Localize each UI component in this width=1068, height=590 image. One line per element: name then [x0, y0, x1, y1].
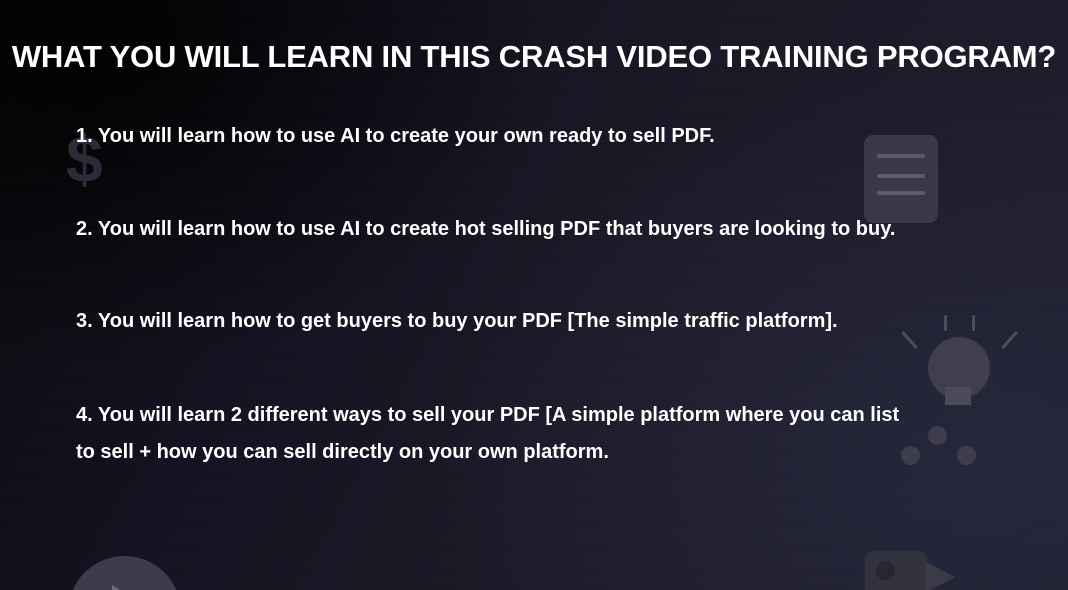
list-item: 1. You will learn how to use AI to creat…: [76, 118, 906, 155]
camera-body: [865, 551, 927, 590]
page-title: WHAT YOU WILL LEARN IN THIS CRASH VIDEO …: [0, 39, 1068, 75]
lightbulb-base: [945, 387, 971, 405]
presentation-slide: $ WHAT YOU WILL LEARN IN THIS CRASH VIDE…: [0, 0, 1068, 590]
camera-lens: [925, 561, 955, 590]
list-item: 2. You will learn how to use AI to creat…: [76, 211, 906, 248]
dot-icon: [957, 446, 976, 465]
video-camera-icon: [865, 551, 955, 590]
learning-points-list: 1. You will learn how to use AI to creat…: [76, 98, 906, 471]
lightbulb-ray: [1001, 331, 1018, 349]
lightbulb-ray: [972, 315, 975, 331]
play-triangle: [112, 585, 154, 590]
dot-icon: [928, 426, 947, 445]
lightbulb-icon: [900, 315, 1020, 420]
play-button-icon: [68, 556, 181, 590]
list-item: 3. You will learn how to get buyers to b…: [76, 303, 906, 340]
lightbulb-ray: [944, 315, 947, 331]
camera-dot: [876, 561, 895, 580]
list-item: 4. You will learn 2 different ways to se…: [76, 397, 906, 471]
